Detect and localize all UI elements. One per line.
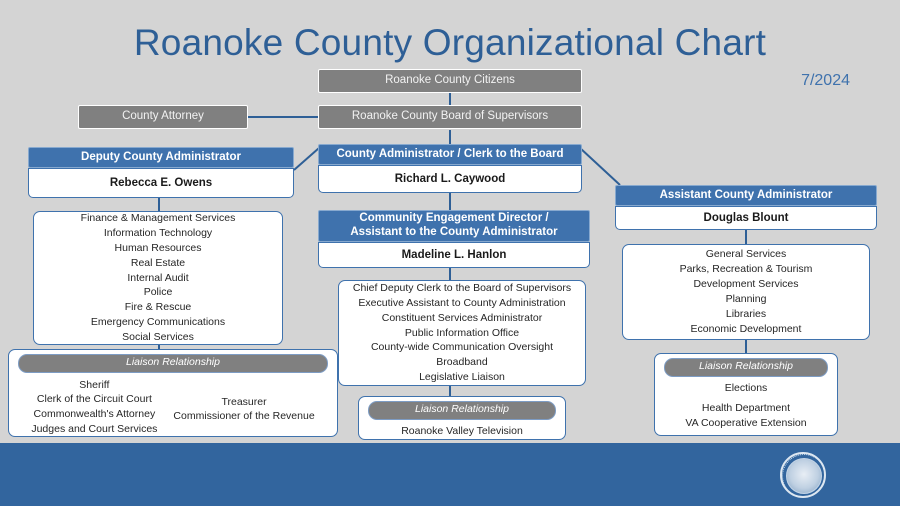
- list-item: Health Department: [655, 401, 837, 416]
- list-item: Commonwealth's Attorney: [31, 407, 157, 422]
- list-item: Information Technology: [40, 226, 276, 241]
- node-label: Deputy County Administrator: [81, 151, 241, 165]
- liaison-pill-label: Liaison Relationship: [368, 401, 556, 420]
- liaison-box-right: Liaison Relationship Elections Health De…: [654, 353, 838, 436]
- list-item: County-wide Communication Oversight: [345, 340, 579, 355]
- list-item: Planning: [629, 292, 863, 307]
- list-item: Commissioner of the Revenue: [173, 409, 314, 424]
- list-item: Legislative Liaison: [345, 370, 579, 385]
- footer-bar: [0, 443, 900, 506]
- node-board-of-supervisors[interactable]: Roanoke County Board of Supervisors: [318, 105, 582, 129]
- connector-assistant-to-list: [745, 228, 747, 244]
- list-deputy-departments: Finance & Management Services Informatio…: [33, 211, 283, 345]
- list-item: Constituent Services Administrator: [345, 311, 579, 326]
- list-item: Sheriff: [31, 378, 157, 393]
- connector-deputy-to-list: [158, 197, 160, 211]
- list-item: Executive Assistant to County Administra…: [345, 296, 579, 311]
- node-deputy-county-administrator-name[interactable]: Rebecca E. Owens: [28, 168, 294, 198]
- node-label: County Administrator / Clerk to the Boar…: [336, 148, 563, 162]
- date-stamp: 7/2024: [801, 72, 850, 90]
- list-item: Elections: [655, 381, 837, 396]
- connector-citizens-to-board: [449, 92, 451, 106]
- connector-administrator-to-community: [449, 193, 451, 210]
- page-title: Roanoke County Organizational Chart: [0, 22, 900, 64]
- liaison-right-body: Elections Health Department VA Cooperati…: [655, 377, 837, 432]
- node-community-engagement-director-name[interactable]: Madeline L. Hanlon: [318, 242, 590, 268]
- list-item: Treasurer: [173, 395, 314, 410]
- list-item: Emergency Communications: [40, 315, 276, 330]
- liaison-left-column-2: Treasurer Commissioner of the Revenue: [173, 378, 314, 438]
- list-item: Public Information Office: [345, 326, 579, 341]
- liaison-box-center: Liaison Relationship Roanoke Valley Tele…: [358, 396, 566, 440]
- node-label-line1: Community Engagement Director /: [359, 212, 548, 226]
- node-label: Douglas Blount: [704, 212, 789, 224]
- list-item: Real Estate: [40, 256, 276, 271]
- org-chart-canvas: Roanoke County Organizational Chart 7/20…: [0, 0, 900, 506]
- list-item: Development Services: [629, 277, 863, 292]
- node-community-engagement-director-title[interactable]: Community Engagement Director / Assistan…: [318, 210, 590, 242]
- node-label: Roanoke County Citizens: [385, 74, 515, 87]
- node-label: Assistant County Administrator: [660, 189, 833, 203]
- list-community-engagement: Chief Deputy Clerk to the Board of Super…: [338, 280, 586, 386]
- node-county-administrator-name[interactable]: Richard L. Caywood: [318, 165, 582, 193]
- node-county-attorney[interactable]: County Attorney: [78, 105, 248, 129]
- list-assistant-departments: General Services Parks, Recreation & Tou…: [622, 244, 870, 340]
- node-label: County Attorney: [122, 110, 204, 123]
- node-assistant-county-administrator-name[interactable]: Douglas Blount: [615, 206, 877, 230]
- list-item: Economic Development: [629, 322, 863, 337]
- list-item: Human Resources: [40, 241, 276, 256]
- liaison-pill-label: Liaison Relationship: [18, 354, 328, 373]
- node-assistant-county-administrator-title[interactable]: Assistant County Administrator: [615, 185, 877, 206]
- list-item: General Services: [629, 247, 863, 262]
- county-seal-icon: [780, 452, 826, 498]
- list-item: VA Cooperative Extension: [655, 416, 837, 431]
- list-item: Social Services: [40, 330, 276, 345]
- connector-community-to-list: [449, 268, 451, 280]
- list-item: Fire & Rescue: [40, 300, 276, 315]
- node-deputy-county-administrator-title[interactable]: Deputy County Administrator: [28, 147, 294, 168]
- liaison-box-left: Liaison Relationship Sheriff Clerk of th…: [8, 349, 338, 437]
- liaison-left-column-1: Sheriff Clerk of the Circuit Court Commo…: [31, 378, 157, 438]
- list-item: Clerk of the Circuit Court: [31, 392, 157, 407]
- node-county-administrator-title[interactable]: County Administrator / Clerk to the Boar…: [318, 144, 582, 165]
- list-item: Internal Audit: [40, 271, 276, 286]
- liaison-left-body: Sheriff Clerk of the Circuit Court Commo…: [9, 373, 337, 438]
- liaison-center-body: Roanoke Valley Television: [359, 420, 565, 439]
- liaison-pill-label: Liaison Relationship: [664, 358, 828, 377]
- list-item: Parks, Recreation & Tourism: [629, 262, 863, 277]
- node-label: Roanoke County Board of Supervisors: [352, 110, 548, 123]
- list-item: Judges and Court Services: [31, 422, 157, 437]
- list-item: Police: [40, 285, 276, 300]
- list-item: Libraries: [629, 307, 863, 322]
- list-item: Finance & Management Services: [40, 211, 276, 226]
- node-roanoke-county-citizens[interactable]: Roanoke County Citizens: [318, 69, 582, 93]
- list-item: Broadband: [345, 355, 579, 370]
- list-item: Roanoke Valley Television: [359, 424, 565, 439]
- node-label-line2: Assistant to the County Administrator: [350, 226, 557, 240]
- list-item: Chief Deputy Clerk to the Board of Super…: [345, 281, 579, 296]
- connector-attorney-to-board: [248, 116, 318, 118]
- seal-inner-emblem: [786, 458, 822, 494]
- node-label: Richard L. Caywood: [395, 173, 506, 185]
- node-label: Madeline L. Hanlon: [402, 249, 507, 261]
- node-label: Rebecca E. Owens: [110, 177, 212, 189]
